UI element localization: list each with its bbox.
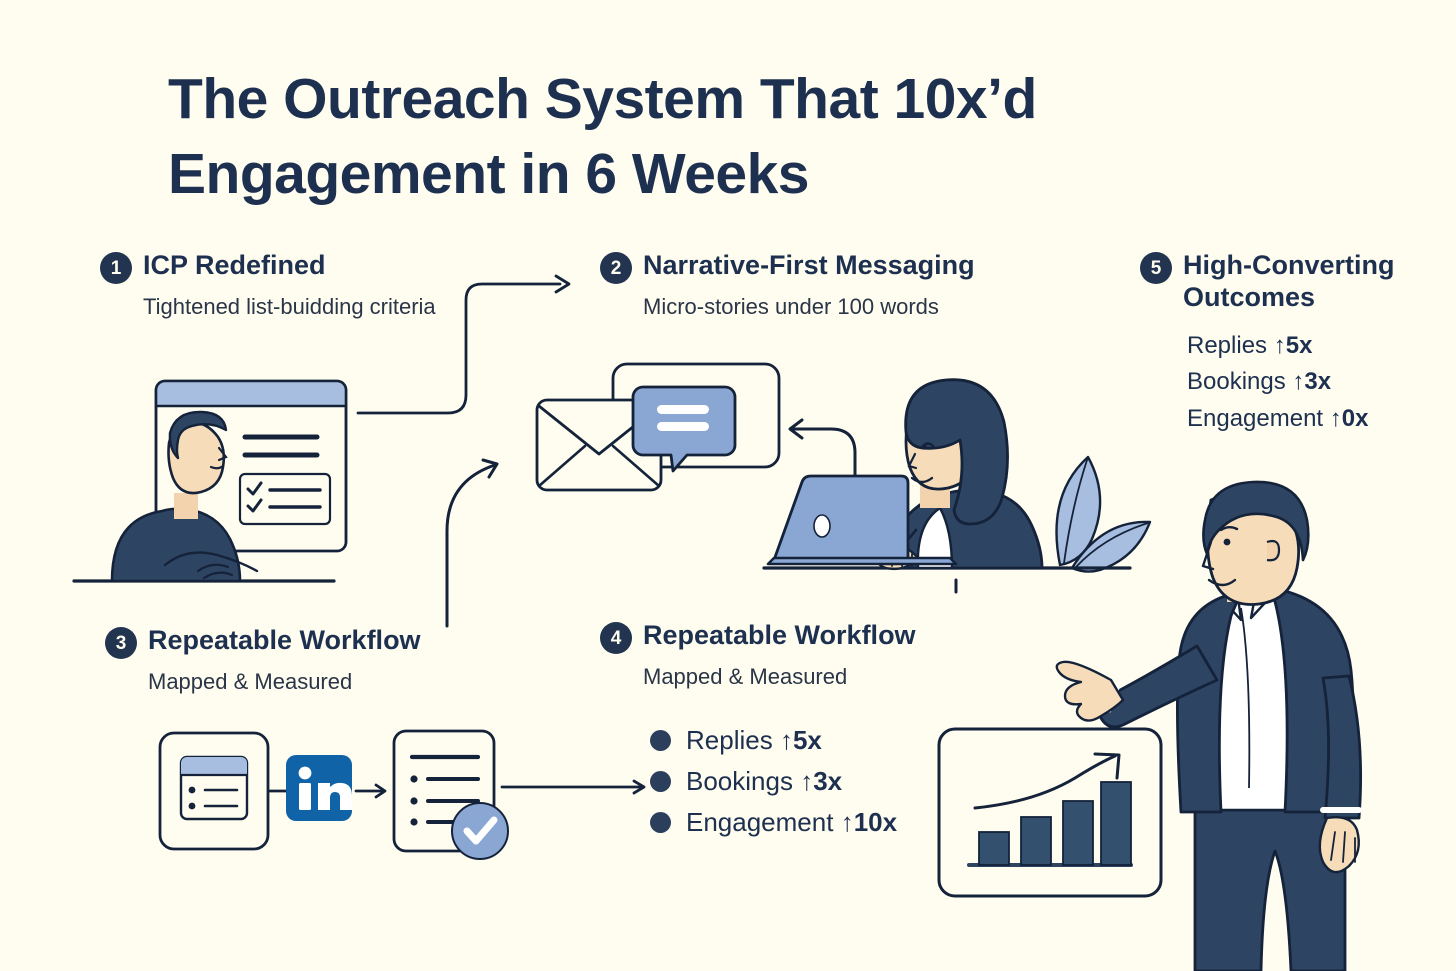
bullet-engagement-text: Engagement ↑10x bbox=[686, 807, 897, 838]
step-4-badge: 4 bbox=[600, 622, 632, 654]
bullet-bookings-arrow-icon: ↑ bbox=[800, 766, 813, 796]
metric-replies-arrow-icon: ↑ bbox=[1274, 332, 1286, 359]
metric-replies-value: 5x bbox=[1286, 332, 1313, 359]
step-2-header: 2 Narrative-First Messaging bbox=[600, 250, 1070, 284]
bullet-engagement-arrow-icon: ↑ bbox=[841, 807, 854, 837]
step-5-title-line-1: High-Converting bbox=[1183, 250, 1394, 280]
bullet-bookings-value: 3x bbox=[813, 766, 842, 796]
step-2-title: Narrative-First Messaging bbox=[643, 250, 975, 282]
bullet-bookings-label: Bookings bbox=[686, 766, 793, 796]
bullet-engagement-label: Engagement bbox=[686, 807, 833, 837]
step-3-subtitle: Mapped & Measured bbox=[148, 667, 525, 696]
metric-engagement-arrow-icon: ↑ bbox=[1330, 405, 1342, 432]
step-5-metrics: Replies ↑5x Bookings ↑3x Engagement ↑0x bbox=[1187, 328, 1440, 437]
metric-bookings-label: Bookings bbox=[1187, 368, 1286, 395]
step-5-header: 5 High-Converting Outcomes bbox=[1140, 250, 1440, 314]
metric-engagement: Engagement ↑0x bbox=[1187, 401, 1440, 437]
bullet-replies-text: Replies ↑5x bbox=[686, 725, 822, 756]
step-5-title: High-Converting Outcomes bbox=[1183, 250, 1394, 314]
step-4-subtitle: Mapped & Measured bbox=[643, 662, 1000, 691]
bullet-replies-label: Replies bbox=[686, 725, 773, 755]
bullet-replies-value: 5x bbox=[793, 725, 822, 755]
metric-replies-label: Replies bbox=[1187, 332, 1267, 359]
title-line-1: The Outreach System That 10x’d bbox=[168, 62, 1228, 137]
step-3: 3 Repeatable Workflow Mapped & Measured bbox=[105, 625, 525, 696]
title-line-2: Engagement in 6 Weeks bbox=[168, 137, 1228, 212]
browser-card-icon bbox=[160, 733, 268, 849]
step-5: 5 High-Converting Outcomes Replies ↑5x B… bbox=[1140, 250, 1440, 437]
step-3-badge: 3 bbox=[105, 627, 137, 659]
businessman-pointing-illustration bbox=[1045, 480, 1445, 971]
step-4-header: 4 Repeatable Workflow bbox=[600, 620, 1000, 654]
metric-bookings: Bookings ↑3x bbox=[1187, 364, 1440, 400]
metric-replies: Replies ↑5x bbox=[1187, 328, 1440, 364]
step-5-title-line-2: Outcomes bbox=[1183, 282, 1315, 312]
step-5-badge: 5 bbox=[1140, 252, 1172, 284]
bullet-replies-arrow-icon: ↑ bbox=[780, 725, 793, 755]
step-2: 2 Narrative-First Messaging Micro-storie… bbox=[600, 250, 1070, 321]
infographic-canvas: The Outreach System That 10x’d Engagemen… bbox=[0, 0, 1456, 971]
bullet-engagement-value: 10x bbox=[854, 807, 897, 837]
step-3-header: 3 Repeatable Workflow bbox=[105, 625, 525, 659]
page-title: The Outreach System That 10x’d Engagemen… bbox=[168, 62, 1228, 212]
step-1-title: ICP Redefined bbox=[143, 250, 326, 282]
step-4-title: Repeatable Workflow bbox=[643, 620, 916, 652]
linkedin-icon bbox=[286, 755, 352, 821]
metric-bookings-value: 3x bbox=[1304, 368, 1331, 395]
metric-engagement-value: 0x bbox=[1342, 405, 1369, 432]
bullet-bookings-text: Bookings ↑3x bbox=[686, 766, 842, 797]
checked-document-icon bbox=[394, 731, 508, 859]
metric-engagement-label: Engagement bbox=[1187, 405, 1323, 432]
step-2-subtitle: Micro-stories under 100 words bbox=[643, 292, 1070, 321]
metric-bookings-arrow-icon: ↑ bbox=[1292, 368, 1304, 395]
step-3-title: Repeatable Workflow bbox=[148, 625, 421, 657]
step-1-badge: 1 bbox=[100, 252, 132, 284]
workflow-chain-illustration bbox=[150, 725, 670, 865]
